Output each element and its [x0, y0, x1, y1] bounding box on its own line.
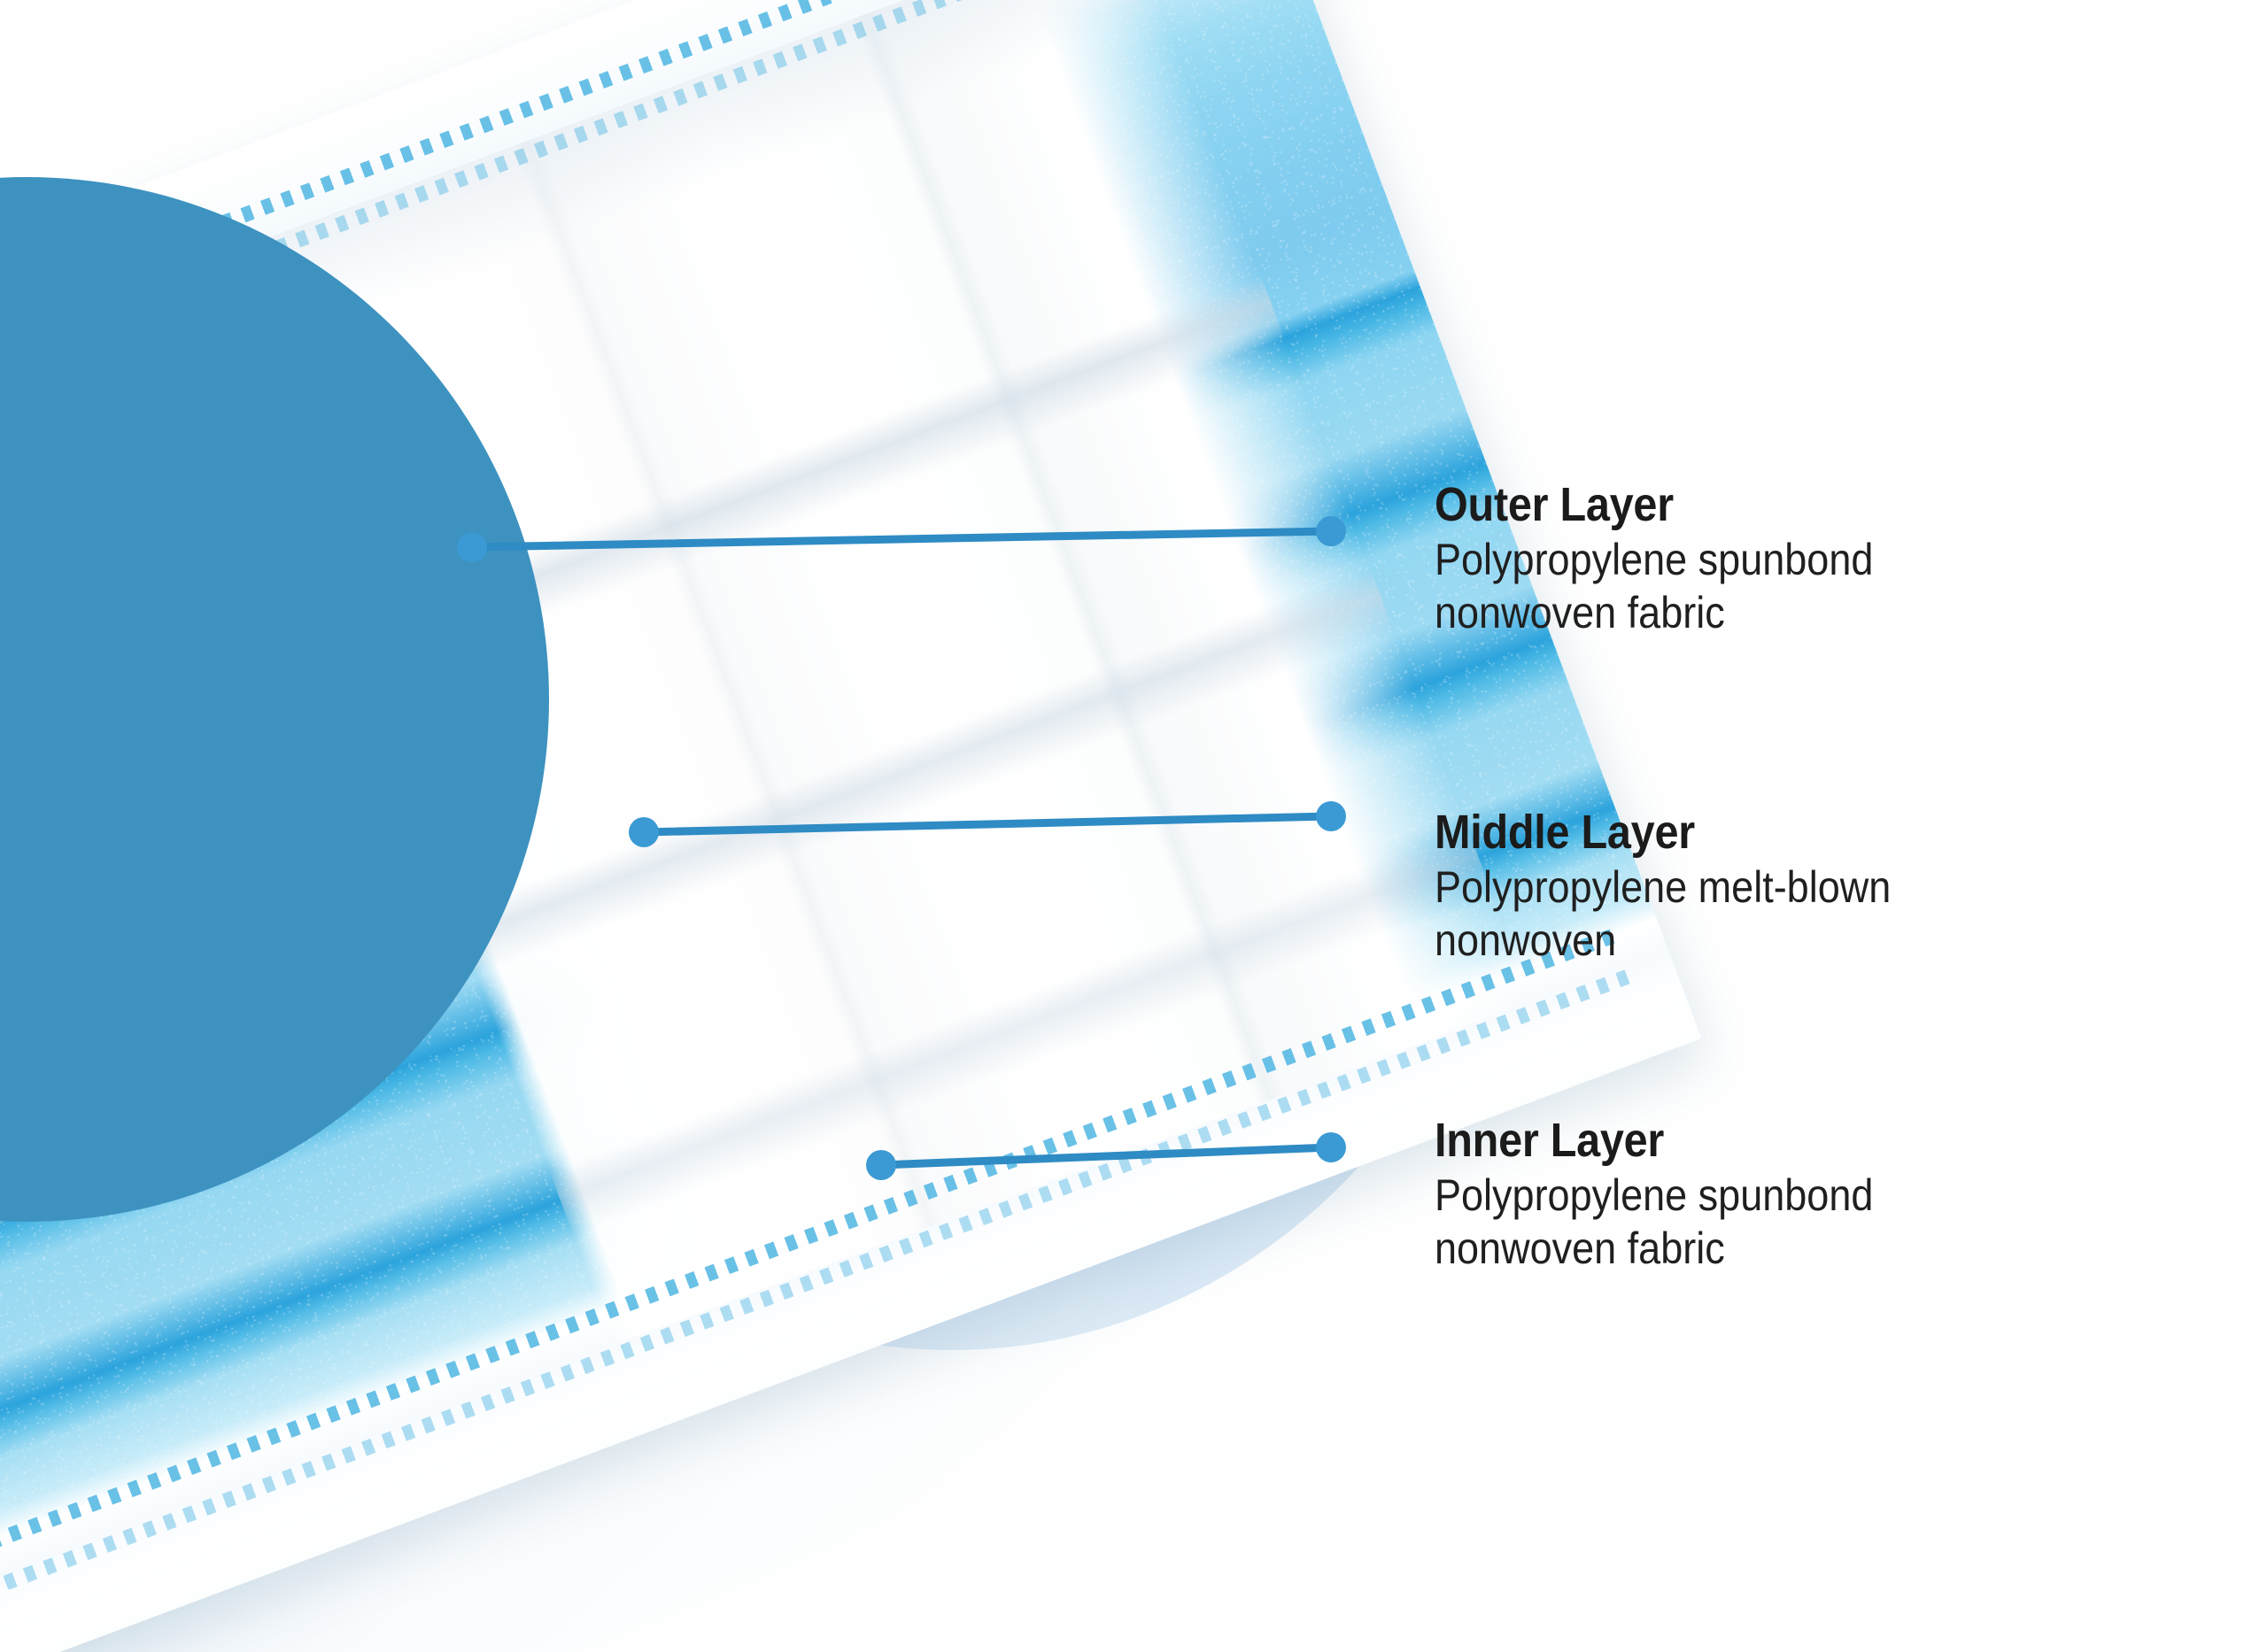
callout-middle-layer: Middle Layer Polypropylene melt-blown no…	[1435, 806, 2232, 967]
callout-list: Outer Layer Polypropylene spunbond nonwo…	[1435, 0, 2232, 1652]
callout-outer-layer: Outer Layer Polypropylene spunbond nonwo…	[1435, 478, 2232, 639]
leader-line-middle-layer	[629, 801, 1346, 847]
callout-title-outer-layer: Outer Layer	[1435, 478, 2152, 531]
callout-inner-layer: Inner Layer Polypropylene spunbond nonwo…	[1435, 1114, 2232, 1275]
callout-description-outer-layer: Polypropylene spunbond nonwoven fabric	[1435, 533, 2152, 639]
leader-line-outer-layer	[457, 516, 1346, 562]
leader-line-inner-layer	[866, 1132, 1346, 1180]
callout-description-inner-layer: Polypropylene spunbond nonwoven fabric	[1435, 1169, 2152, 1275]
callout-description-middle-layer: Polypropylene melt-blown nonwoven	[1435, 861, 2152, 967]
infographic-canvas: Outer Layer Polypropylene spunbond nonwo…	[0, 0, 2267, 1652]
callout-title-inner-layer: Inner Layer	[1435, 1114, 2152, 1167]
callout-title-middle-layer: Middle Layer	[1435, 806, 2152, 859]
